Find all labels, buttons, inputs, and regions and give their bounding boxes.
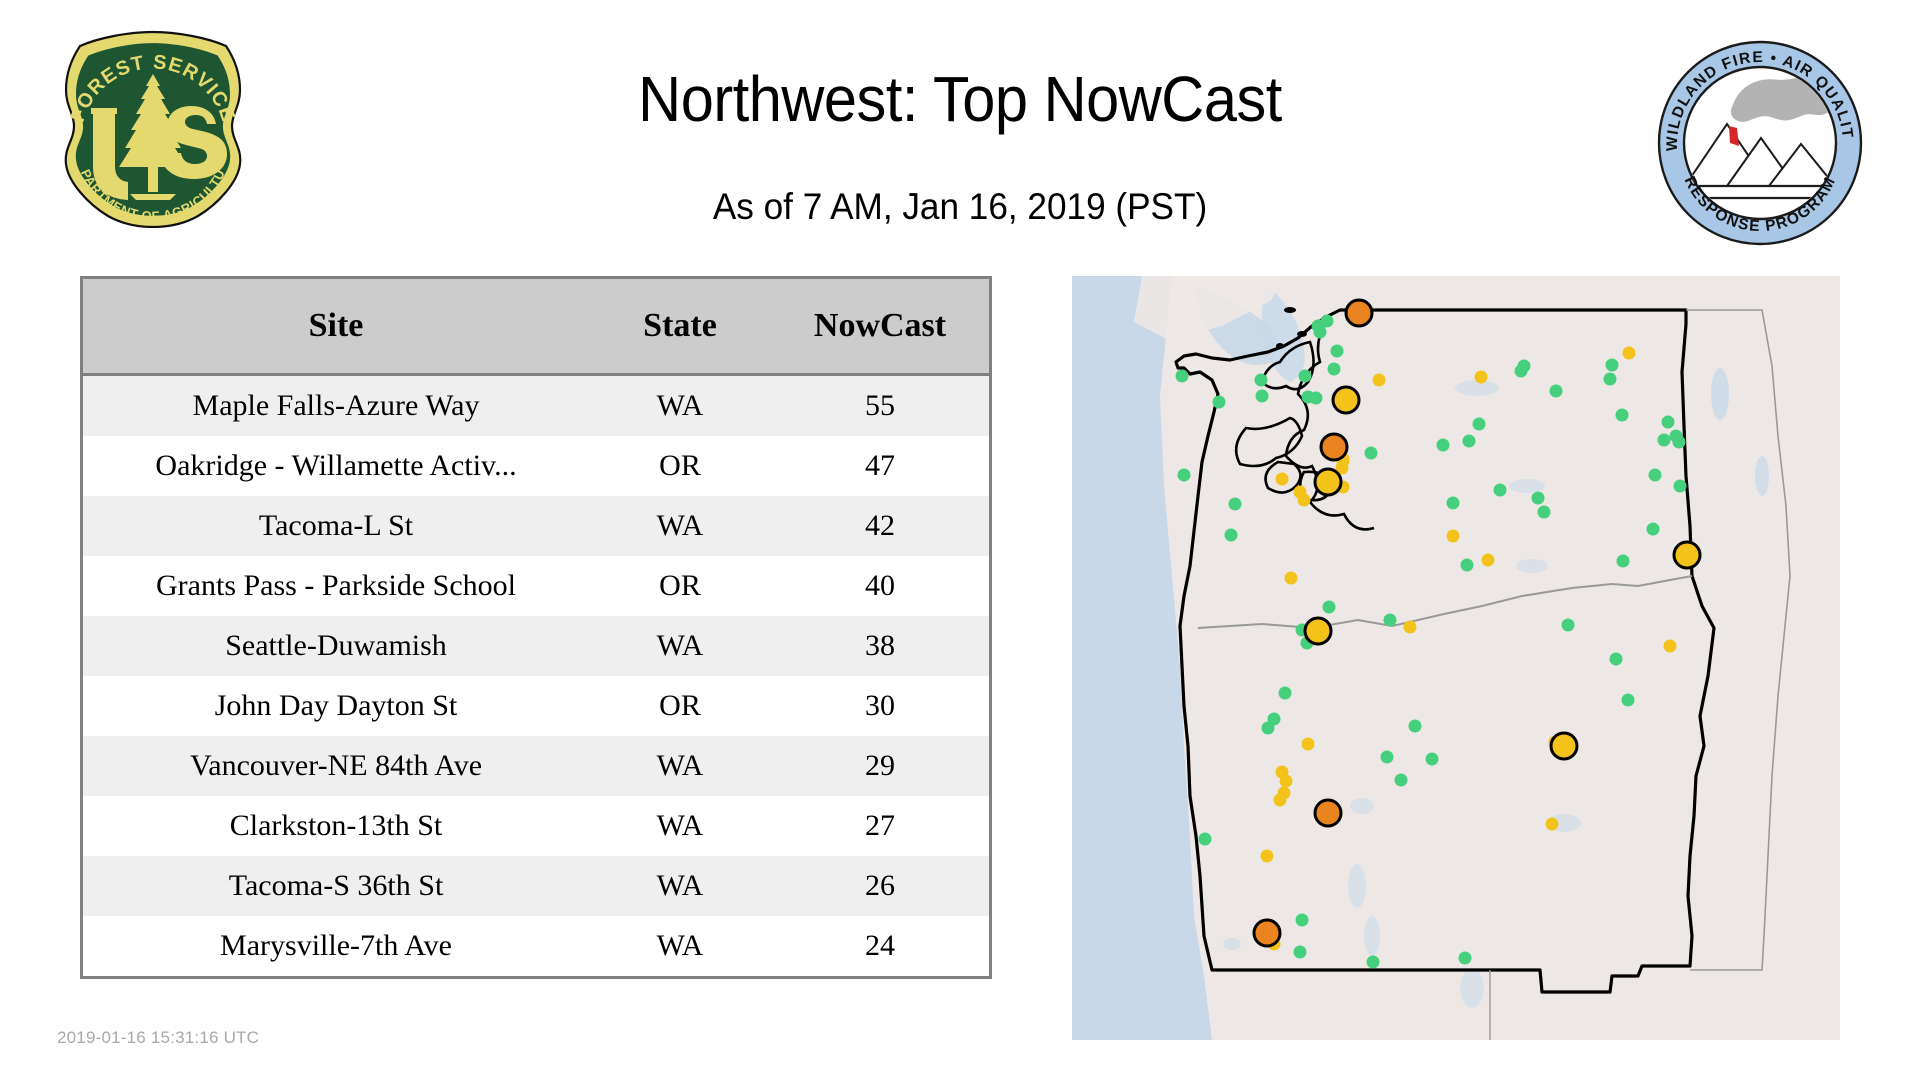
site-cell: Tacoma-S 36th St [83,856,589,916]
monitor-marker-good[interactable] [1299,370,1312,383]
monitor-marker-good[interactable] [1314,326,1327,339]
monitor-marker-moderate[interactable] [1373,374,1386,387]
monitor-marker-good[interactable] [1662,416,1675,429]
table-header-row: Site State NowCast [83,279,989,375]
monitor-marker-good[interactable] [1550,385,1563,398]
monitor-marker-good[interactable] [1323,601,1336,614]
map-svg: Maple Falls-Azure WayMarysville-7th AveS… [1072,276,1840,1040]
nowcast-cell: 38 [771,616,989,676]
monitor-marker-good[interactable] [1658,434,1671,447]
monitor-marker-moderate[interactable] [1280,775,1293,788]
pnw-monitor-map[interactable]: Maple Falls-Azure WayMarysville-7th AveS… [1072,276,1840,1040]
monitor-marker-moderate[interactable] [1404,621,1417,634]
nowcast-cell: 42 [771,496,989,556]
top-nowcast-marker-8[interactable]: Grants Pass - Parkside School [1254,920,1280,946]
monitor-marker-good[interactable] [1328,363,1341,376]
monitor-marker-moderate[interactable] [1475,371,1488,384]
monitor-marker-good[interactable] [1606,359,1619,372]
table-row[interactable]: John Day Dayton StOR30 [83,676,989,736]
monitor-marker-good[interactable] [1426,753,1439,766]
state-cell: OR [589,556,771,616]
monitor-marker-good[interactable] [1178,469,1191,482]
monitor-marker-good[interactable] [1365,447,1378,460]
nowcast-cell: 30 [771,676,989,736]
column-header-site[interactable]: Site [83,279,589,375]
monitor-marker-good[interactable] [1255,374,1268,387]
state-cell: WA [589,796,771,856]
monitor-marker-good[interactable] [1604,373,1617,386]
monitor-marker-good[interactable] [1610,653,1623,666]
table-body: Maple Falls-Azure WayWA55Oakridge - Will… [83,375,989,977]
site-cell: Clarkston-13th St [83,796,589,856]
monitor-marker-good[interactable] [1294,946,1307,959]
monitor-marker-good[interactable] [1459,952,1472,965]
monitor-marker-moderate[interactable] [1261,850,1274,863]
table-row[interactable]: Tacoma-L StWA42 [83,496,989,556]
nowcast-cell: 47 [771,436,989,496]
table-row[interactable]: Seattle-DuwamishWA38 [83,616,989,676]
monitor-marker-good[interactable] [1622,694,1635,707]
state-cell: WA [589,375,771,437]
monitor-marker-good[interactable] [1409,720,1422,733]
monitor-marker-good[interactable] [1447,497,1460,510]
slide-root: FOREST SERVICE DEPARTMENT OF AGRICULTURE… [0,0,1920,1080]
wfaq-roundel-icon: WILDLAND FIRE • AIR QUALITY RESPONSE PRO… [1655,38,1865,248]
state-cell: WA [589,856,771,916]
monitor-marker-good[interactable] [1674,480,1687,493]
site-cell: Marysville-7th Ave [83,916,589,976]
monitor-marker-good[interactable] [1225,529,1238,542]
top-nowcast-marker-6[interactable]: John Day Dayton St [1551,733,1577,759]
table-row[interactable]: Maple Falls-Azure WayWA55 [83,375,989,437]
state-cell: WA [589,916,771,976]
nowcast-cell: 26 [771,856,989,916]
site-cell: Vancouver-NE 84th Ave [83,736,589,796]
monitor-marker-good[interactable] [1649,469,1662,482]
monitor-marker-moderate[interactable] [1298,494,1311,507]
site-cell: John Day Dayton St [83,676,589,736]
monitor-marker-good[interactable] [1256,390,1269,403]
monitor-marker-moderate[interactable] [1664,640,1677,653]
nowcast-cell: 40 [771,556,989,616]
page-subtitle: As of 7 AM, Jan 16, 2019 (PST) [48,186,1872,228]
monitor-marker-moderate[interactable] [1482,554,1495,567]
state-cell: WA [589,496,771,556]
table-row[interactable]: Oakridge - Willamette Activ...OR47 [83,436,989,496]
top-nowcast-marker-3[interactable]: Tacoma-L St [1315,469,1341,495]
monitor-marker-good[interactable] [1437,439,1450,452]
monitor-marker-good[interactable] [1296,914,1309,927]
nowcast-table: Site State NowCast Maple Falls-Azure Way… [83,279,989,976]
column-header-state[interactable]: State [589,279,771,375]
table-row[interactable]: Tacoma-S 36th StWA26 [83,856,989,916]
site-cell: Maple Falls-Azure Way [83,375,589,437]
state-cell: OR [589,436,771,496]
table-row[interactable]: Vancouver-NE 84th AveWA29 [83,736,989,796]
monitor-marker-moderate[interactable] [1285,572,1298,585]
table-row[interactable]: Grants Pass - Parkside SchoolOR40 [83,556,989,616]
monitor-marker-moderate[interactable] [1546,818,1559,831]
top-nowcast-marker-7[interactable]: Oakridge - Willamette Activ... [1315,800,1341,826]
state-cell: OR [589,676,771,736]
monitor-marker-good[interactable] [1461,559,1474,572]
monitor-marker-good[interactable] [1302,391,1315,404]
page-title: Northwest: Top NowCast [67,62,1853,136]
monitor-marker-good[interactable] [1367,956,1380,969]
monitor-marker-good[interactable] [1532,492,1545,505]
monitor-marker-good[interactable] [1229,498,1242,511]
monitor-marker-good[interactable] [1670,430,1683,443]
monitor-marker-good[interactable] [1494,484,1507,497]
monitor-marker-good[interactable] [1617,555,1630,568]
monitor-marker-good[interactable] [1176,370,1189,383]
nowcast-cell: 29 [771,736,989,796]
table-row[interactable]: Clarkston-13th StWA27 [83,796,989,856]
monitor-marker-good[interactable] [1384,614,1397,627]
nowcast-cell: 24 [771,916,989,976]
state-cell: WA [589,616,771,676]
monitor-marker-good[interactable] [1381,751,1394,764]
column-header-nowcast[interactable]: NowCast [771,279,989,375]
state-cell: WA [589,736,771,796]
monitor-marker-good[interactable] [1515,365,1528,378]
monitor-marker-moderate[interactable] [1447,530,1460,543]
monitor-marker-good[interactable] [1538,506,1551,519]
top-nowcast-marker-4[interactable]: Clarkston-13th St [1674,542,1700,568]
top-nowcast-table: Site State NowCast Maple Falls-Azure Way… [80,276,992,979]
site-cell: Grants Pass - Parkside School [83,556,589,616]
wildland-fire-air-quality-logo: WILDLAND FIRE • AIR QUALITY RESPONSE PRO… [1655,38,1865,248]
monitor-marker-moderate[interactable] [1302,738,1315,751]
monitor-marker-good[interactable] [1321,315,1334,328]
top-nowcast-marker-2[interactable]: Seattle-Duwamish [1321,434,1347,460]
site-cell: Tacoma-L St [83,496,589,556]
monitor-marker-good[interactable] [1647,523,1660,536]
monitor-marker-good[interactable] [1331,345,1344,358]
top-nowcast-marker-0[interactable]: Maple Falls-Azure Way [1346,300,1372,326]
monitor-marker-good[interactable] [1473,418,1486,431]
monitor-marker-moderate[interactable] [1276,473,1289,486]
monitor-marker-good[interactable] [1213,396,1226,409]
nowcast-cell: 27 [771,796,989,856]
monitor-marker-good[interactable] [1463,435,1476,448]
monitor-marker-good[interactable] [1562,619,1575,632]
site-cell: Oakridge - Willamette Activ... [83,436,589,496]
monitor-marker-good[interactable] [1616,409,1629,422]
monitor-marker-good[interactable] [1279,687,1292,700]
table-row[interactable]: Marysville-7th AveWA24 [83,916,989,976]
generation-timestamp: 2019-01-16 15:31:16 UTC [57,1028,259,1048]
top-nowcast-marker-5[interactable]: Vancouver-NE 84th Ave [1305,618,1331,644]
nowcast-cell: 55 [771,375,989,437]
table-header: Site State NowCast [83,279,989,375]
monitor-marker-good[interactable] [1199,833,1212,846]
monitor-marker-moderate[interactable] [1278,787,1291,800]
monitor-marker-good[interactable] [1395,774,1408,787]
monitor-marker-moderate[interactable] [1623,347,1636,360]
monitor-marker-good[interactable] [1268,713,1281,726]
site-cell: Seattle-Duwamish [83,616,589,676]
top-nowcast-marker-1[interactable]: Marysville-7th Ave [1333,387,1359,413]
